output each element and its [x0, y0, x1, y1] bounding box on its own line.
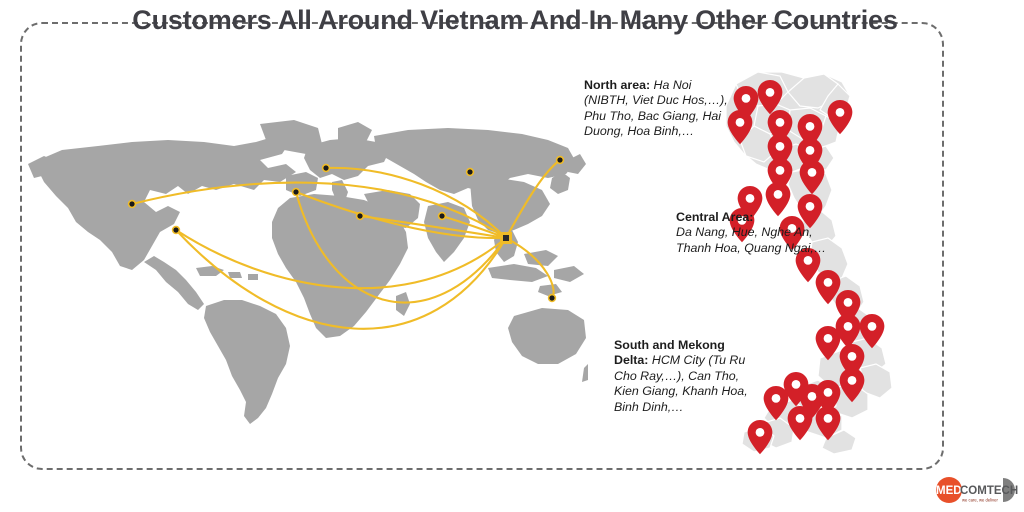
page-title: Customers All Around Vietnam And In Many… — [0, 5, 1024, 36]
route-node — [357, 213, 364, 220]
logo-text-med: MED — [936, 485, 962, 497]
route-node — [557, 157, 564, 164]
route-node — [439, 213, 446, 220]
route-node — [173, 227, 180, 234]
world-landmasses — [28, 120, 588, 424]
region-label-central: Central Area: — [676, 210, 753, 224]
region-text-central: Da Nang, Hue, Nghe An, Thanh Hoa, Quang … — [676, 225, 826, 254]
region-label-north: North area: — [584, 78, 650, 92]
route-node — [129, 201, 136, 208]
region-note-south: South and Mekong Delta: HCM City (Tu Ru … — [614, 338, 754, 415]
route-node — [323, 165, 330, 172]
route-node — [549, 295, 556, 302]
world-map — [28, 120, 588, 430]
logo-tagline: we care, we deliver — [962, 498, 998, 503]
route-node — [467, 169, 474, 176]
region-note-north: North area: Ha Noi (NIBTH, Viet Duc Hos,… — [584, 78, 730, 140]
hub-marker-vietnam — [500, 232, 512, 244]
region-note-central: Central Area: Da Nang, Hue, Nghe An, Tha… — [676, 210, 832, 256]
route-node — [293, 189, 300, 196]
logo-text-comtech: COMTECH — [960, 485, 1018, 497]
company-logo: MED COMTECH we care, we deliver — [925, 472, 1020, 508]
